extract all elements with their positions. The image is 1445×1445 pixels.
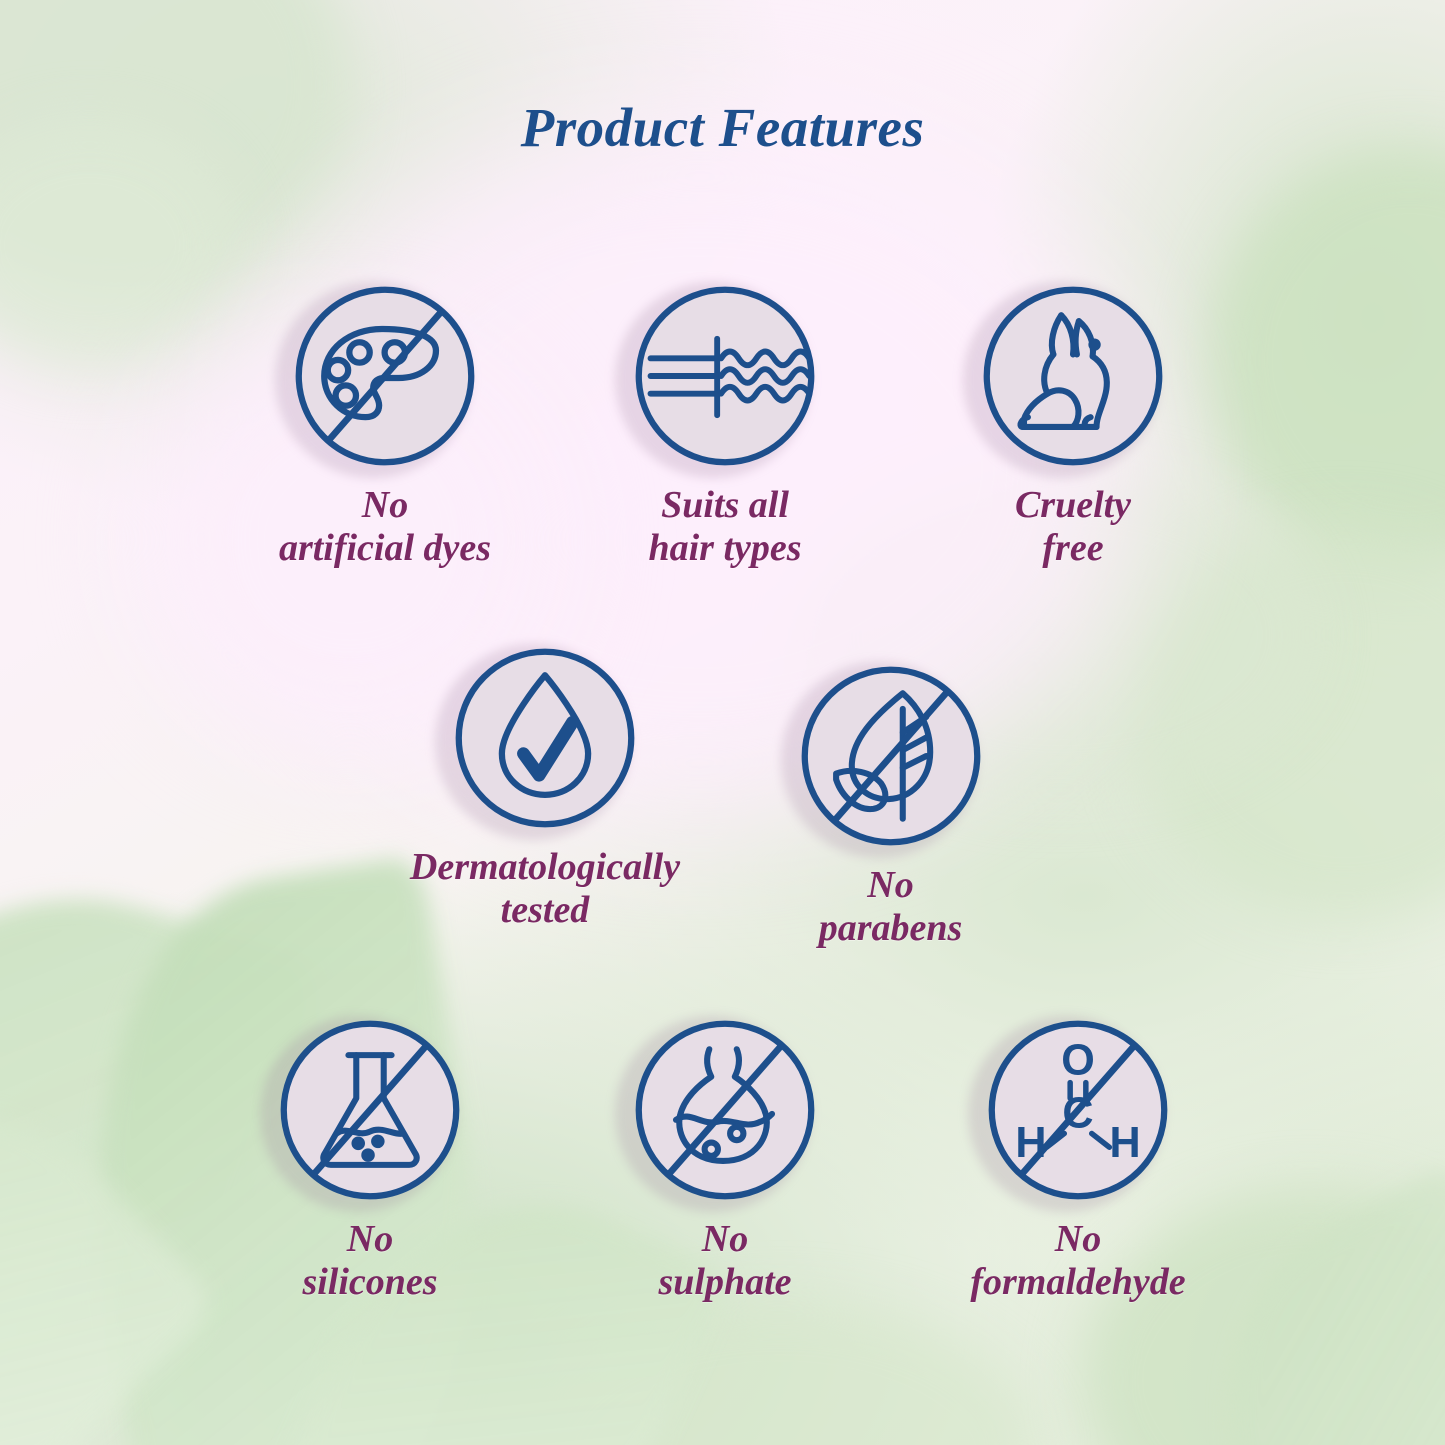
feature-label: Suits all hair types [545,484,905,569]
leaf-crossed-icon [793,658,989,854]
straight-and-wavy-hair-icon [627,278,823,474]
feature-no-formaldehyde[interactable]: O C H H No formaldehyde [898,1012,1258,1303]
feature-dermatologically-tested[interactable]: Dermatologically tested [360,640,730,931]
feature-label: No sulphate [545,1218,905,1303]
badge-no-formaldehyde: O C H H [980,1012,1176,1208]
badge-no-silicones [272,1012,468,1208]
feature-cruelty-free[interactable]: Cruelty free [893,278,1253,569]
badge-suits-all-hair-types [627,278,823,474]
round-flask-crossed-icon [627,1012,823,1208]
badge-no-parabens [793,658,989,854]
feature-no-sulphate[interactable]: No sulphate [545,1012,905,1303]
formaldehyde-molecule-crossed-icon: O C H H [980,1012,1176,1208]
badge-cruelty-free [975,278,1171,474]
badge-dermatologically-tested [447,640,643,836]
feature-no-artificial-dyes[interactable]: No artificial dyes [205,278,565,569]
feature-label: No artificial dyes [205,484,565,569]
feature-suits-all-hair-types[interactable]: Suits all hair types [545,278,905,569]
feature-label: Cruelty free [893,484,1253,569]
product-features-graphic: Product Features [0,0,1445,1445]
badge-no-sulphate [627,1012,823,1208]
atom-label-o: O [1061,1037,1095,1085]
erlenmeyer-flask-crossed-icon [272,1012,468,1208]
water-drop-check-icon [447,640,643,836]
atom-label-h-right: H [1109,1119,1140,1167]
feature-label: Dermatologically tested [360,846,730,931]
rabbit-icon [975,278,1171,474]
feature-label: No parabens [718,864,1063,949]
feature-label: No silicones [190,1218,550,1303]
paint-palette-crossed-icon [287,278,483,474]
feature-grid: No artificial dyes [0,0,1445,1445]
feature-no-silicones[interactable]: No silicones [190,1012,550,1303]
badge-no-artificial-dyes [287,278,483,474]
feature-label: No formaldehyde [898,1218,1258,1303]
feature-no-parabens[interactable]: No parabens [718,658,1063,949]
page-title: Product Features [0,96,1445,159]
